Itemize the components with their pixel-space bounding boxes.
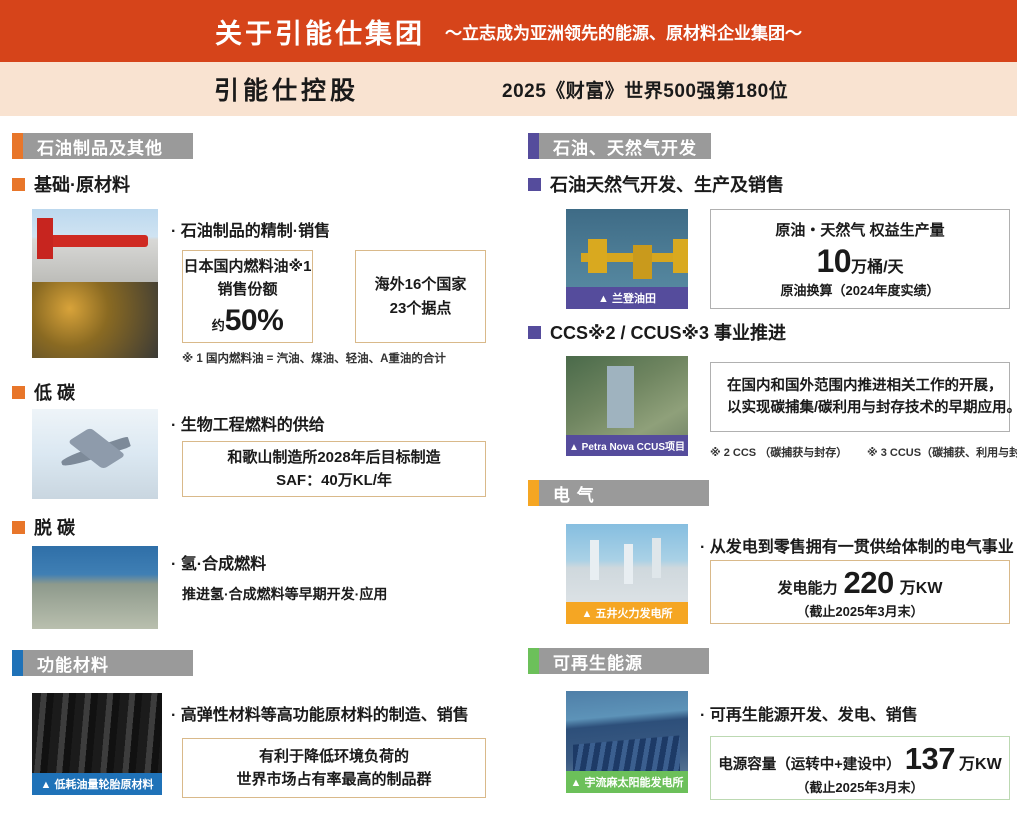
value-production: 10 [816,243,851,280]
company-banner: 引能仕控股 2025《财富》世界500强第180位 [0,62,1017,116]
value-prefix: 约 [212,315,225,334]
section-label: 功能材料 [37,651,109,676]
page-title: 关于引能仕集团 [215,12,425,51]
infobox-renewable-capacity: 电源容量（运转中+建设中） 137 万KW （截止2025年3月末） [710,736,1010,800]
footnote-2: ※ 2 CCS （碳捕获与封存） [710,444,847,460]
gas-station-photo [32,209,158,282]
box-label: 电源容量（运转中+建设中） [718,754,900,776]
value-capacity: 137 [905,741,955,777]
subheading-label: 基础·原材料 [34,171,130,197]
box-line-1: 日本国内燃料油※1 [184,255,312,278]
section-label: 可再生能源 [553,649,643,674]
section-title-bg: 可再生能源 [539,648,709,674]
text-hydrogen-development: 推进氢·合成燃料等早期开发·应用 [182,584,387,604]
infobox-domestic-fuel-share: 日本国内燃料油※1 销售份额 约 50% [182,250,313,343]
box-subnote: （截止2025年3月末） [796,601,923,620]
accent-bar-amber [528,480,539,506]
oil-rig-photo: ▲ 兰登油田 [566,209,688,309]
section-title-bg: 石油制品及其他 [23,133,193,159]
subheading-ccs-ccus: CCS※2 / CCUS※3 事业推进 [528,319,786,345]
value-fuel-share: 50% [225,304,284,338]
subheading-low-carbon: 低 碳 [12,379,75,405]
box-line-2: 世界市场占有率最高的制品群 [236,768,431,791]
bullet-high-elastic-materials: · 高弹性材料等高功能原材料的制造、销售 [171,701,469,725]
box-value-row: 发电能力 220 万KW [778,565,943,601]
bullet-refining-sales: · 石油制品的精制·销售 [171,217,330,241]
accent-bar-orange [12,133,23,159]
slide-page: 关于引能仕集团 ～立志成为亚洲领先的能源、原材料企业集团～ 引能仕控股 2025… [0,0,1017,838]
photo-caption: ▲ 兰登油田 [566,287,688,309]
infobox-ccs-promotion: 在国内和国外范围内推进相关工作的开展， 以实现碳捕集/碳利用与封存技术的早期应用… [710,362,1010,432]
box-value-row: 电源容量（运转中+建设中） 137 万KW [718,741,1001,777]
box-line-1: 在国内和国外范围内推进相关工作的开展， [727,375,1003,397]
box-line-1: 海外16个国家 [375,273,467,296]
section-title-bg: 电 气 [539,480,709,506]
box-line-2: 销售份额 [217,278,277,301]
bullet-square-orange [12,521,25,534]
subheading-oil-gas-production: 石油天然气开发、生产及销售 [528,171,784,197]
box-label: 发电能力 [778,577,838,600]
value-capacity: 220 [844,565,894,601]
section-title-bg: 石油、天然气开发 [539,133,711,159]
right-column: 石油、天然气开发 石油天然气开发、生产及销售 ▲ 兰登油田 原油・天然气 权益生… [510,116,1017,838]
photo-caption: ▲ 低耗油量轮胎原材料 [32,773,162,795]
accent-bar-blue [12,650,23,676]
infobox-environment-products: 有利于降低环境负荷的 世界市场占有率最高的制品群 [182,738,486,798]
box-line-1: 有利于降低环境负荷的 [259,745,409,768]
subheading-label: CCS※2 / CCUS※3 事业推进 [550,319,786,345]
infobox-overseas-bases: 海外16个国家 23个据点 [355,250,486,343]
petra-nova-photo: ▲ Petra Nova CCUS项目 [566,356,688,456]
bullet-square-purple [528,326,541,339]
box-subnote: （截止2025年3月末） [796,777,923,796]
footnote-3: ※ 3 CCUS（碳捕获、利用与封存） [867,444,1017,460]
box-line-2: 23个据点 [390,297,452,320]
subheading-label: 脱 碳 [34,514,75,540]
section-title-bg: 功能材料 [23,650,193,676]
tire-photo: ▲ 低耗油量轮胎原材料 [32,693,162,795]
photo-caption: ▲ Petra Nova CCUS项目 [566,435,688,456]
photo-caption: ▲ 宇流麻太阳能发电所 [566,771,688,793]
infobox-power-generation-capacity: 发电能力 220 万KW （截止2025年3月末） [710,560,1010,624]
section-header-functional-materials: 功能材料 [12,650,210,676]
footnote-1: ※ 1 国内燃料油 = 汽油、煤油、轻油、A重油的合计 [182,350,446,366]
bullet-bio-fuel: · 生物工程燃料的供给 [171,411,325,435]
page-header-banner: 关于引能仕集团 ～立志成为亚洲领先的能源、原材料企业集团～ [0,0,1017,62]
section-header-oil-gas-development: 石油、天然气开发 [528,133,740,159]
infobox-oil-gas-production-volume: 原油・天然气 权益生产量 10 万桶/天 原油换算（2024年度实绩） [710,209,1010,309]
photo-caption: ▲ 五井火力发电所 [566,602,688,624]
value-unit: 万桶/天 [851,253,903,277]
section-header-electricity: 电 气 [528,480,740,506]
section-label: 电 气 [553,481,595,506]
thermal-plant-photo: ▲ 五井火力发电所 [566,524,688,624]
subheading-label: 石油天然气开发、生产及销售 [550,171,784,197]
box-value-row: 约 50% [212,304,284,338]
solar-plant-photo: ▲ 宇流麻太阳能发电所 [566,691,688,793]
engine-oil-photo [32,282,158,358]
subheading-decarbonization: 脱 碳 [12,514,75,540]
bullet-square-purple [528,178,541,191]
subheading-basic-materials: 基础·原材料 [12,171,130,197]
company-name: 引能仕控股 [214,71,359,107]
section-label: 石油、天然气开发 [553,134,697,159]
bullet-square-orange [12,386,25,399]
subheading-label: 低 碳 [34,379,75,405]
bullet-square-orange [12,178,25,191]
box-value-row: 10 万桶/天 [816,243,903,280]
accent-bar-purple [528,133,539,159]
box-line-3: 原油换算（2024年度实绩） [781,280,940,299]
section-label: 石油制品及其他 [37,134,163,159]
page-subtitle: ～立志成为亚洲领先的能源、原材料企业集团～ [445,19,802,44]
bullet-renewable-business: · 可再生能源开发、发电、销售 [700,701,918,725]
fortune-ranking: 2025《财富》世界500强第180位 [502,76,788,103]
airplane-photo [32,409,158,499]
infobox-saf-target: 和歌山制造所2028年后目标制造 SAF：40万KL/年 [182,441,486,497]
bullet-hydrogen-fuel: · 氢·合成燃料 [171,550,266,574]
bullet-electricity-business: · 从发电到零售拥有一贯供给体制的电气事业 [700,533,1014,557]
box-line-2: SAF：40万KL/年 [276,469,392,492]
value-unit: 万KW [959,750,1002,774]
section-header-renewable-energy: 可再生能源 [528,648,740,674]
box-line-1: 原油・天然气 权益生产量 [775,219,944,242]
box-line-1: 和歌山制造所2028年后目标制造 [227,446,440,469]
box-line-2: 以实现碳捕集/碳利用与封存技术的早期应用。 [727,397,1017,419]
value-unit: 万KW [900,574,943,598]
coastal-city-photo [32,546,158,629]
accent-bar-green [528,648,539,674]
section-header-petroleum-products: 石油制品及其他 [12,133,210,159]
left-column: 石油制品及其他 基础·原材料 · 石油制品的精制·销售 日本国内燃料油※1 销售… [0,116,510,838]
